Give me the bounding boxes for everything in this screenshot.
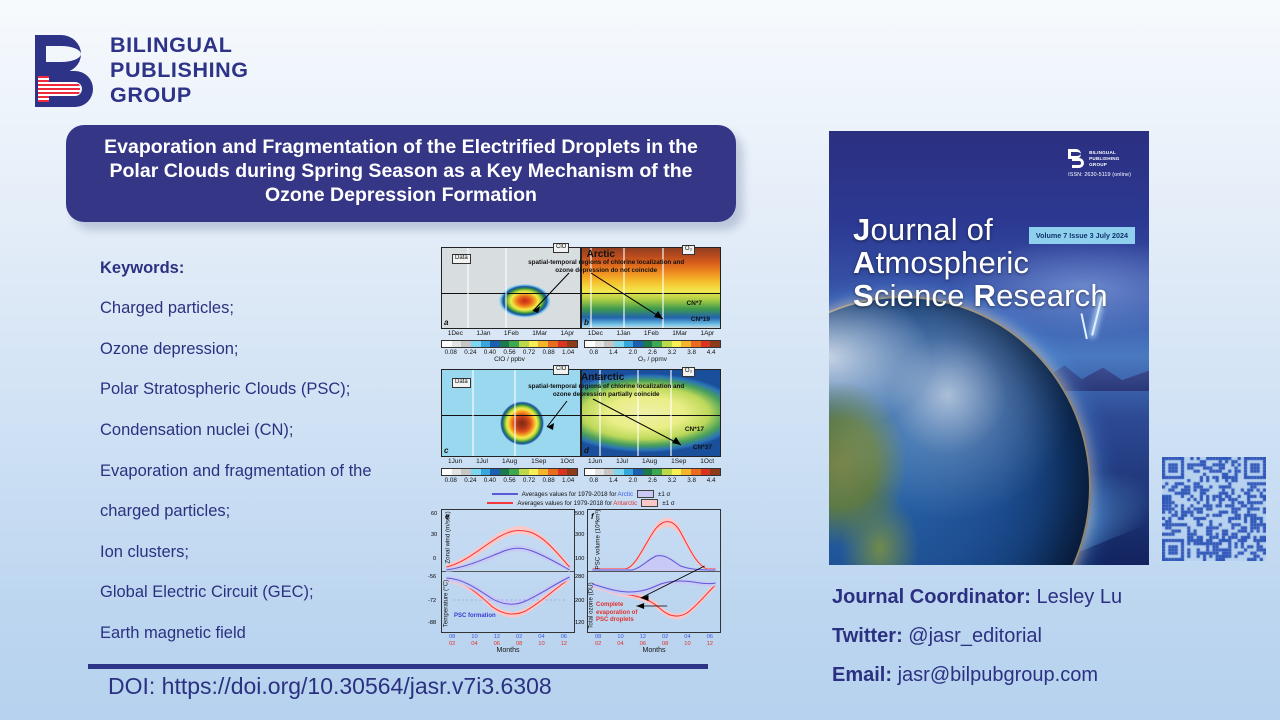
arctic-maps: a Data 700 600 500 400 b CN*7 CN*19 28 2… (441, 247, 721, 329)
panel-d-letter: d (584, 446, 589, 455)
twitter-label: Twitter: (832, 625, 903, 647)
figure-panel-timeseries: Averages values for 1979-2018 for Arctic… (441, 490, 721, 640)
axis-tick: 0.08 (445, 477, 457, 484)
axis-tick: 1Apr (700, 330, 714, 340)
keyword-item: Evaporation and fragmentation of the (100, 462, 452, 481)
cover-bpg-logo-icon (1068, 149, 1085, 169)
axis-tick: 12 (640, 634, 646, 641)
panel-f-x-arctic: 08 10 12 02 04 06 (587, 634, 721, 641)
axis-tick: 120 (575, 620, 584, 626)
axis-tick: 1Dec (448, 330, 463, 340)
axis-tick: 1Jul (476, 458, 488, 468)
publisher-name: BILINGUAL PUBLISHING GROUP (110, 33, 249, 108)
logo-line-2: PUBLISHING (110, 58, 249, 83)
data-tag: Data (452, 378, 471, 388)
axis-tick: 3.8 (687, 477, 696, 484)
panel-f-x-antarctic: 02 04 06 08 10 12 (587, 641, 721, 648)
axis-tick: 0.8 (589, 349, 598, 356)
article-title: Evaporation and Fragmentation of the Ele… (66, 125, 736, 222)
axis-tick: 06 (707, 634, 713, 641)
timeseries-x-axes: 08 10 12 02 04 06 02 04 06 08 10 12 Mont… (441, 634, 721, 654)
axis-tick: 1Aug (642, 458, 657, 468)
o3-colorbar-ticks-2: 0.8 1.4 2.0 2.6 3.2 3.8 4.4 (584, 476, 721, 484)
cover-title-rest-3: cience (874, 278, 974, 313)
cn-annotation: CN*19 (691, 316, 710, 323)
panel-f-x-title: Months (587, 647, 721, 654)
cover-title-cap-j: J (853, 212, 870, 247)
journal-coordinator-label: Journal Coordinator: (832, 586, 1031, 608)
axis-tick: 0.56 (503, 477, 515, 484)
panel-e-x-arctic: 08 10 12 02 04 06 (441, 634, 575, 641)
cover-title-cap-a: A (853, 245, 876, 280)
antarctic-region-label: Antarctic (581, 372, 624, 383)
doi-label: DOI: (108, 673, 162, 699)
keyword-item: Condensation nuclei (CN); (100, 421, 452, 440)
axis-tick: 0 (433, 556, 436, 562)
clo-colorbar-ticks-2: 0.08 0.24 0.40 0.56 0.72 0.88 1.04 (441, 476, 578, 484)
keywords-section: Keywords: Charged particles; Ozone depre… (100, 259, 452, 665)
axis-tick: 1.04 (562, 349, 574, 356)
legend-sigma-arctic: ±1 σ (658, 491, 670, 498)
axis-tick: 1Dec (588, 330, 603, 340)
email-value[interactable]: jasr@bilpubgroup.com (892, 664, 1098, 686)
axis-tick: 12 (561, 641, 567, 648)
axis-tick: 0.40 (484, 349, 496, 356)
axis-tick: 0.88 (542, 477, 554, 484)
axis-tick: 200 (575, 598, 584, 604)
axis-tick: 02 (595, 641, 601, 648)
legend-label-antarctic-prefix: Averages values for 1979-2018 for (517, 500, 612, 507)
antarctic-note: spatial-temporal regions of chlorine loc… (525, 383, 687, 399)
cn-annotation: CN*37 (693, 444, 712, 451)
cover-journal-title: Journal of Atmospheric Science Research (853, 213, 1108, 312)
arctic-band-swatch-icon (637, 490, 654, 498)
axis-tick: 08 (662, 641, 668, 648)
keyword-item: Global Electric Circuit (GEC); (100, 583, 452, 602)
timeseries-legend: Averages values for 1979-2018 for Arctic… (441, 490, 721, 507)
logo-line-3: GROUP (110, 83, 249, 108)
axis-tick: 4.4 (707, 349, 716, 356)
axis-tick: 04 (538, 634, 544, 641)
cn-annotation: CN*17 (685, 426, 704, 433)
clo-colorbar-2 (441, 468, 578, 476)
keyword-item: Earth magnetic field (100, 624, 452, 643)
axis-tick: 1Feb (644, 330, 659, 340)
legend-row-arctic: Averages values for 1979-2018 for Arctic… (492, 490, 671, 498)
psc-evaporation-annotation: Complete evaporation of PSC droplets (596, 602, 644, 624)
email-label: Email: (832, 664, 892, 686)
axis-tick: 0.40 (484, 477, 496, 484)
o3-colorbar (584, 340, 721, 348)
panel-e-top-ylabel: Zonal wind (m/sec) (445, 511, 452, 563)
antarctic-colorbars: 0.08 0.24 0.40 0.56 0.72 0.88 1.04 (441, 468, 721, 484)
o3-tag: O₃ (682, 367, 695, 377)
article-figure: a Data 700 600 500 400 b CN*7 CN*19 28 2… (441, 247, 721, 662)
keyword-item: Charged particles; (100, 299, 452, 318)
axis-tick: 08 (516, 641, 522, 648)
axis-tick: 2.0 (629, 477, 638, 484)
axis-tick: 1.4 (609, 349, 618, 356)
axis-tick: 04 (471, 641, 477, 648)
antarctic-x-axis: 1Jun 1Jul 1Aug 1Sep 1Oct 1Jun 1Jul 1Aug … (441, 457, 721, 468)
axis-tick: 02 (662, 634, 668, 641)
axis-tick: -72 (428, 598, 436, 604)
axis-tick: 2.6 (648, 349, 657, 356)
legend-sigma-antarctic: ±1 σ (662, 500, 674, 507)
axis-tick: 12 (707, 641, 713, 648)
cover-title-cap-s: S (853, 278, 874, 313)
clo-colorbar-ticks: 0.08 0.24 0.40 0.56 0.72 0.88 1.04 (441, 348, 578, 356)
axis-tick: 0.24 (464, 349, 476, 356)
axis-tick: 1.04 (562, 477, 574, 484)
publisher-logo: BILINGUAL PUBLISHING GROUP (35, 33, 249, 108)
psc-formation-annotation: PSC formation (454, 613, 496, 620)
axis-tick: 1Jun (448, 458, 462, 468)
axis-tick: -56 (428, 574, 436, 580)
arctic-colorbars: 0.08 0.24 0.40 0.56 0.72 0.88 1.04 ClO /… (441, 340, 721, 363)
axis-tick: -88 (428, 620, 436, 626)
arctic-x-axis: 1Dec 1Jan 1Feb 1Mar 1Apr 1Dec 1Jan 1Feb … (441, 329, 721, 340)
clo-colorbar-group: 0.08 0.24 0.40 0.56 0.72 0.88 1.04 ClO /… (441, 340, 578, 363)
cover-publisher-name: BILINGUAL PUBLISHING GROUP (1089, 150, 1119, 168)
axis-tick: 500 (575, 511, 584, 517)
axis-tick: 12 (494, 634, 500, 641)
antarctic-maps: c Data 700 600 500 400 d CN*17 CN*37 28 … (441, 369, 721, 457)
panel-e-x-axis: 08 10 12 02 04 06 02 04 06 08 10 12 Mont… (441, 634, 575, 654)
axis-tick: 10 (617, 634, 623, 641)
axis-tick: 08 (449, 634, 455, 641)
figure-panel-arctic: a Data 700 600 500 400 b CN*7 CN*19 28 2… (441, 247, 721, 363)
timeseries-plots: e Zonal wind (m/sec) Temperature (°C (441, 509, 721, 633)
data-tag: Data (452, 254, 471, 264)
clo-tag: ClO (553, 365, 569, 375)
axis-tick: 02 (516, 634, 522, 641)
antarctic-band-swatch-icon (641, 499, 658, 507)
axis-tick: 1Sep (531, 458, 546, 468)
twitter-row: Twitter: @jasr_editorial (832, 626, 1122, 646)
panel-f-x-axis: 08 10 12 02 04 06 02 04 06 08 10 12 Mont… (587, 634, 721, 654)
axis-tick: 10 (471, 634, 477, 641)
axis-tick: 0.88 (542, 349, 554, 356)
axis-tick: 06 (561, 634, 567, 641)
axis-tick: 0.56 (503, 349, 515, 356)
panel-a-letter: a (444, 318, 448, 327)
journal-coordinator-value: Lesley Lu (1031, 586, 1122, 608)
panel-f-bottom-ylabel: Total ozone (DU) (588, 582, 595, 628)
axis-tick: 0.72 (523, 349, 535, 356)
axis-tick: 2.0 (629, 349, 638, 356)
axis-tick: 0.24 (464, 477, 476, 484)
legend-label-arctic: Arctic (617, 491, 632, 498)
arctic-line-swatch-icon (492, 493, 518, 495)
axis-tick: 1Jul (616, 458, 628, 468)
axis-tick: 0.8 (589, 477, 598, 484)
doi-url[interactable]: https://doi.org/10.30564/jasr.v7i3.6308 (162, 673, 552, 699)
cover-issn: ISSN: 2630-5119 (online) (1068, 172, 1131, 178)
axis-tick: 04 (684, 634, 690, 641)
panel-e-bottom-ylabel: Temperature (°C) (442, 580, 449, 628)
journal-cover-image: BILINGUAL PUBLISHING GROUP ISSN: 2630-51… (829, 131, 1149, 565)
keyword-item: Ozone depression; (100, 340, 452, 359)
axis-tick: 2.6 (648, 477, 657, 484)
axis-tick: 02 (449, 641, 455, 648)
axis-tick: 1Sep (671, 458, 686, 468)
axis-tick: 100 (575, 556, 584, 562)
panel-f-top-ylabel: PSC volume (10⁶km³) (594, 510, 601, 570)
axis-tick: 4.4 (707, 477, 716, 484)
axis-tick: 1Jan (476, 330, 490, 340)
axis-tick: 1Jun (588, 458, 602, 468)
keyword-item: charged particles; (100, 502, 452, 521)
axis-tick: 1Aug (502, 458, 517, 468)
o3-colorbar-group-2: 0.8 1.4 2.0 2.6 3.2 3.8 4.4 (584, 468, 721, 484)
journal-coordinator-row: Journal Coordinator: Lesley Lu (832, 587, 1122, 607)
axis-tick: 1Feb (504, 330, 519, 340)
doi-divider (88, 664, 708, 669)
axis-tick: 08 (595, 634, 601, 641)
panel-c-letter: c (444, 446, 448, 455)
legend-row-antarctic: Averages values for 1979-2018 for Antarc… (487, 499, 674, 507)
arctic-note: spatial-temporal regions of chlorine loc… (525, 259, 687, 275)
axis-tick: 300 (575, 532, 584, 538)
axis-tick: 280 (575, 574, 584, 580)
keyword-item: Ion clusters; (100, 543, 452, 562)
axis-tick: 1Mar (532, 330, 547, 340)
panel-f-plot: f PSC volum (587, 509, 721, 633)
axis-tick: 1Oct (700, 458, 714, 468)
clo-colorbar (441, 340, 578, 348)
axis-tick: 1Oct (560, 458, 574, 468)
twitter-value[interactable]: @jasr_editorial (903, 625, 1042, 647)
axis-tick: 3.2 (668, 349, 677, 356)
axis-tick: 1Mar (672, 330, 687, 340)
axis-tick: 10 (684, 641, 690, 648)
axis-tick: 60 (431, 511, 437, 517)
o3-colorbar-ticks: 0.8 1.4 2.0 2.6 3.2 3.8 4.4 (584, 348, 721, 356)
legend-label-arctic-prefix: Averages values for 1979-2018 for (522, 491, 617, 498)
o3-colorbar-2 (584, 468, 721, 476)
bilingual-publishing-group-logo-icon (35, 35, 97, 107)
axis-tick: 3.2 (668, 477, 677, 484)
clo-tag: ClO (553, 243, 569, 253)
clo-colorbar-title: ClO / ppbv (441, 356, 578, 363)
cover-title-rest-1: ournal of (870, 212, 992, 247)
panel-e-plot: e Zonal wind (m/sec) Temperature (°C (441, 509, 575, 633)
panel-b-letter: b (584, 318, 589, 327)
axis-tick: 1.4 (609, 477, 618, 484)
axis-tick: 04 (617, 641, 623, 648)
qr-code-canvas[interactable] (1162, 457, 1266, 561)
o3-colorbar-group: 0.8 1.4 2.0 2.6 3.2 3.8 4.4 O₃ / ppmv (584, 340, 721, 363)
axis-tick: 1Apr (560, 330, 574, 340)
qr-code[interactable] (1162, 457, 1266, 561)
cover-title-rest-4: esearch (996, 278, 1108, 313)
keyword-item: Polar Stratospheric Clouds (PSC); (100, 380, 452, 399)
keywords-heading: Keywords: (100, 259, 452, 278)
o3-colorbar-title: O₃ / ppmv (584, 356, 721, 363)
antarctic-line-swatch-icon (487, 502, 513, 504)
figure-panel-antarctic: c Data 700 600 500 400 d CN*17 CN*37 28 … (441, 369, 721, 484)
contact-block: Journal Coordinator: Lesley Lu Twitter: … (832, 587, 1122, 704)
axis-tick: 06 (494, 641, 500, 648)
doi-line[interactable]: DOI: https://doi.org/10.30564/jasr.v7i3.… (108, 673, 552, 700)
axis-tick: 06 (640, 641, 646, 648)
clo-colorbar-group-2: 0.08 0.24 0.40 0.56 0.72 0.88 1.04 (441, 468, 578, 484)
logo-line-1: BILINGUAL (110, 33, 249, 58)
legend-label-antarctic: Antarctic (613, 500, 637, 507)
axis-tick: 30 (431, 532, 437, 538)
email-row: Email: jasr@bilpubgroup.com (832, 665, 1122, 685)
o3-tag: O₃ (682, 245, 695, 255)
axis-tick: 0.08 (445, 349, 457, 356)
cover-title-cap-r: R (974, 278, 997, 313)
axis-tick: 0.72 (523, 477, 535, 484)
cover-publisher-block: BILINGUAL PUBLISHING GROUP ISSN: 2630-51… (1068, 149, 1131, 178)
panel-e-x-antarctic: 02 04 06 08 10 12 (441, 641, 575, 648)
axis-tick: 10 (538, 641, 544, 648)
cover-title-rest-2: tmospheric (876, 245, 1030, 280)
cn-annotation: CN*7 (686, 300, 702, 307)
cover-bpg-line-3: GROUP (1089, 162, 1119, 168)
axis-tick: 3.8 (687, 349, 696, 356)
axis-tick: 1Jan (616, 330, 630, 340)
panel-e-x-title: Months (441, 647, 575, 654)
